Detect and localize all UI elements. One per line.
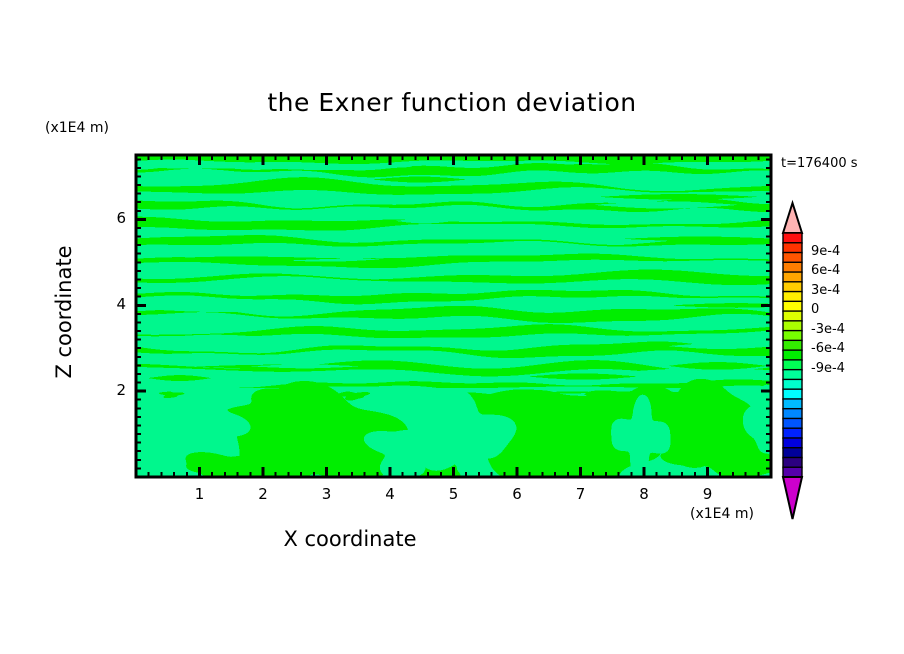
colorbar-cell	[783, 457, 802, 467]
colorbar-cell	[783, 428, 802, 438]
colorbar-cell	[783, 292, 802, 302]
colorbar-tick-label: 9e-4	[811, 244, 840, 259]
colorbar-cell	[783, 370, 802, 380]
colorbar-cell	[783, 282, 802, 292]
y-axis-title: Z coordinate	[52, 222, 76, 402]
colorbar-cell	[783, 379, 802, 389]
colorbar-cell	[783, 389, 802, 399]
colorbar-cell	[783, 448, 802, 458]
x-axis-unit-label: (x1E4 m)	[690, 506, 754, 522]
colorbar-cell	[783, 272, 802, 282]
colorbar-cell	[783, 301, 802, 311]
colorbar-cell	[783, 321, 802, 331]
colorbar-cell	[783, 262, 802, 272]
colorbar-cell	[783, 340, 802, 350]
y-tick-label: 4	[96, 295, 126, 313]
colorbar-cell	[783, 467, 802, 477]
colorbar-cell	[783, 418, 802, 428]
colorbar-tick-label: -9e-4	[811, 361, 845, 376]
colorbar-tick-label: -3e-4	[811, 322, 845, 337]
colorbar-cell	[783, 243, 802, 253]
x-tick-label: 1	[180, 485, 220, 503]
colorbar-under-arrow	[783, 477, 802, 519]
colorbar-cell	[783, 233, 802, 243]
colorbar	[783, 203, 802, 519]
colorbar-cell	[783, 360, 802, 370]
chart-title: the Exner function deviation	[0, 88, 904, 117]
colorbar-tick-label: -6e-4	[811, 341, 845, 356]
colorbar-cell	[783, 331, 802, 341]
y-axis-unit-label: (x1E4 m)	[45, 120, 109, 136]
x-tick-label: 4	[370, 485, 410, 503]
x-tick-label: 7	[561, 485, 601, 503]
x-tick-label: 2	[243, 485, 283, 503]
colorbar-cell	[783, 311, 802, 321]
x-tick-label: 8	[624, 485, 664, 503]
colorbar-cell	[783, 253, 802, 263]
x-tick-label: 3	[307, 485, 347, 503]
colorbar-tick-label: 3e-4	[811, 283, 840, 298]
x-tick-label: 9	[688, 485, 728, 503]
colorbar-tick-label: 6e-4	[811, 263, 840, 278]
colorbar-cell	[783, 399, 802, 409]
axes-frame	[136, 155, 771, 477]
y-tick-label: 2	[96, 381, 126, 399]
y-tick-label: 6	[96, 209, 126, 227]
x-tick-label: 6	[497, 485, 537, 503]
colorbar-cell	[783, 438, 802, 448]
x-tick-label: 5	[434, 485, 474, 503]
colorbar-over-arrow	[783, 203, 802, 233]
colorbar-cell	[783, 409, 802, 419]
contour-field	[130, 145, 803, 487]
colorbar-tick-label: 0	[811, 302, 819, 317]
timestamp-annotation: t=176400 s	[781, 156, 858, 171]
x-axis-title: X coordinate	[0, 527, 700, 551]
colorbar-cell	[783, 350, 802, 360]
